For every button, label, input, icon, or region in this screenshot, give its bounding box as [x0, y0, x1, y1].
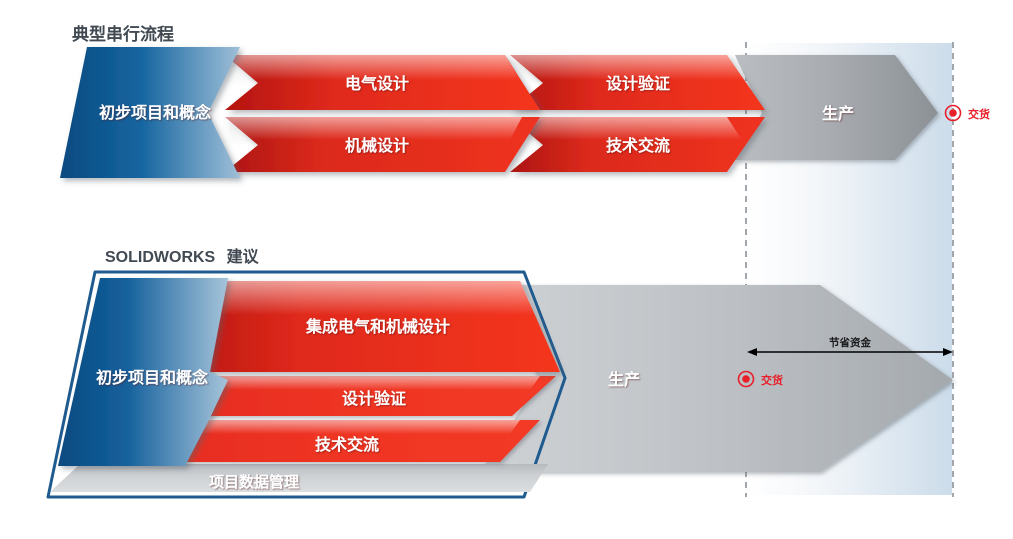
top-delivery-label: 交货: [968, 107, 990, 121]
bottom-initial-project-label: 初步项目和概念: [96, 368, 209, 387]
savings-label: 节省资金: [829, 336, 871, 349]
bottom-flow: SOLIDWORKS 建议 初步项目和概念 集成电气和机械设计 设计验证 技术交…: [48, 248, 953, 497]
diagram-canvas: 典型串行流程 初步项目和概念 电气设计 机械设计 设计验证 技术交流 生产 交货: [0, 0, 1013, 539]
bottom-design-verification-label: 设计验证: [342, 389, 406, 408]
top-flow-title: 典型串行流程: [72, 24, 174, 44]
bottom-delivery-label: 交货: [761, 373, 783, 387]
bottom-integrated-design-label: 集成电气和机械设计: [305, 317, 450, 336]
top-electrical-design-label: 电气设计: [345, 74, 409, 93]
top-mechanical-design-label: 机械设计: [345, 136, 409, 155]
bottom-technical-exchange-label: 技术交流: [315, 435, 379, 454]
bottom-production-label: 生产: [608, 370, 640, 389]
top-initial-project-label: 初步项目和概念: [99, 103, 212, 122]
bottom-title-suffix: 建议: [227, 248, 260, 266]
top-production-label: 生产: [822, 104, 854, 123]
top-design-verification-label: 设计验证: [606, 74, 670, 93]
process-flow-diagram: 典型串行流程 初步项目和概念 电气设计 机械设计 设计验证 技术交流 生产 交货: [0, 0, 1013, 539]
bottom-flow-title: SOLIDWORKS 建议: [105, 248, 260, 266]
bottom-foundation-label: 项目数据管理: [209, 473, 299, 491]
top-technical-exchange-label: 技术交流: [606, 136, 670, 155]
bottom-title-brand: SOLIDWORKS: [105, 249, 216, 266]
